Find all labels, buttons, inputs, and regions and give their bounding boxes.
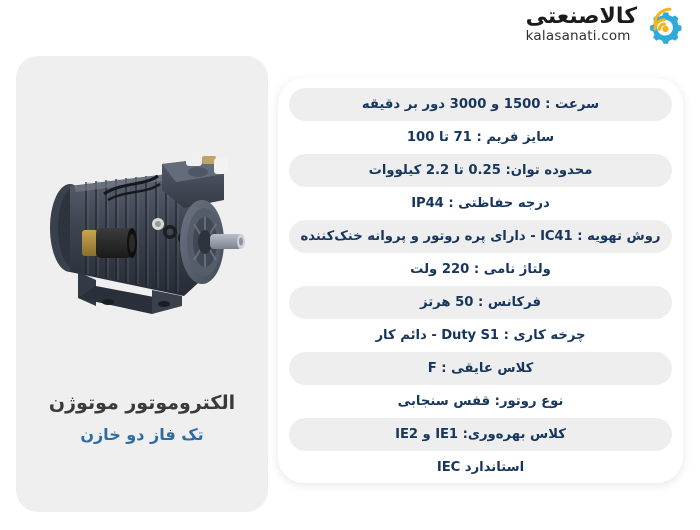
- brand-text: کالاصنعتی kalasanati.com: [526, 6, 637, 44]
- spec-row: کلاس بهره‌وری: IE1 و IE2: [289, 418, 672, 451]
- gear-wifi-icon: [644, 4, 686, 46]
- spec-row: فرکانس : 50 هرتز: [289, 286, 672, 319]
- spec-list: سرعت : 1500 و 3000 دور بر دقیقه سایز فری…: [278, 88, 683, 483]
- brand-name-en: kalasanati.com: [526, 30, 631, 44]
- spec-row: سایز فریم : 71 تا 100: [289, 121, 672, 154]
- spec-row: چرخه کاری : Duty S1 - دائم کار: [289, 319, 672, 352]
- infographic-page: کالاصنعتی kalasanati.com: [0, 0, 700, 530]
- spec-row: استاندارد IEC: [289, 451, 672, 483]
- product-subtitle: تک فاز دو خازن: [16, 425, 268, 444]
- spec-row: سرعت : 1500 و 3000 دور بر دقیقه: [289, 88, 672, 121]
- spec-row: ولتاژ نامی : 220 ولت: [289, 253, 672, 286]
- spec-row: روش تهویه : IC41 - دارای پره روتور و پرو…: [289, 220, 672, 253]
- product-title: الکتروموتور موتوژن: [16, 392, 268, 414]
- spec-row: نوع روتور: قفس سنجابی: [289, 385, 672, 418]
- spec-row: محدوده توان: 0.25 تا 2.2 کیلووات: [289, 154, 672, 187]
- spec-card: سرعت : 1500 و 3000 دور بر دقیقه سایز فری…: [278, 78, 683, 483]
- product-card: الکتروموتور موتوژن تک فاز دو خازن: [16, 56, 268, 512]
- spec-row: درجه حفاظتی : IP44: [289, 187, 672, 220]
- brand-name-fa: کالاصنعتی: [526, 6, 637, 28]
- spec-row: کلاس عایقی : F: [289, 352, 672, 385]
- brand-logo[interactable]: کالاصنعتی kalasanati.com: [526, 4, 686, 46]
- motor-image: [34, 146, 250, 336]
